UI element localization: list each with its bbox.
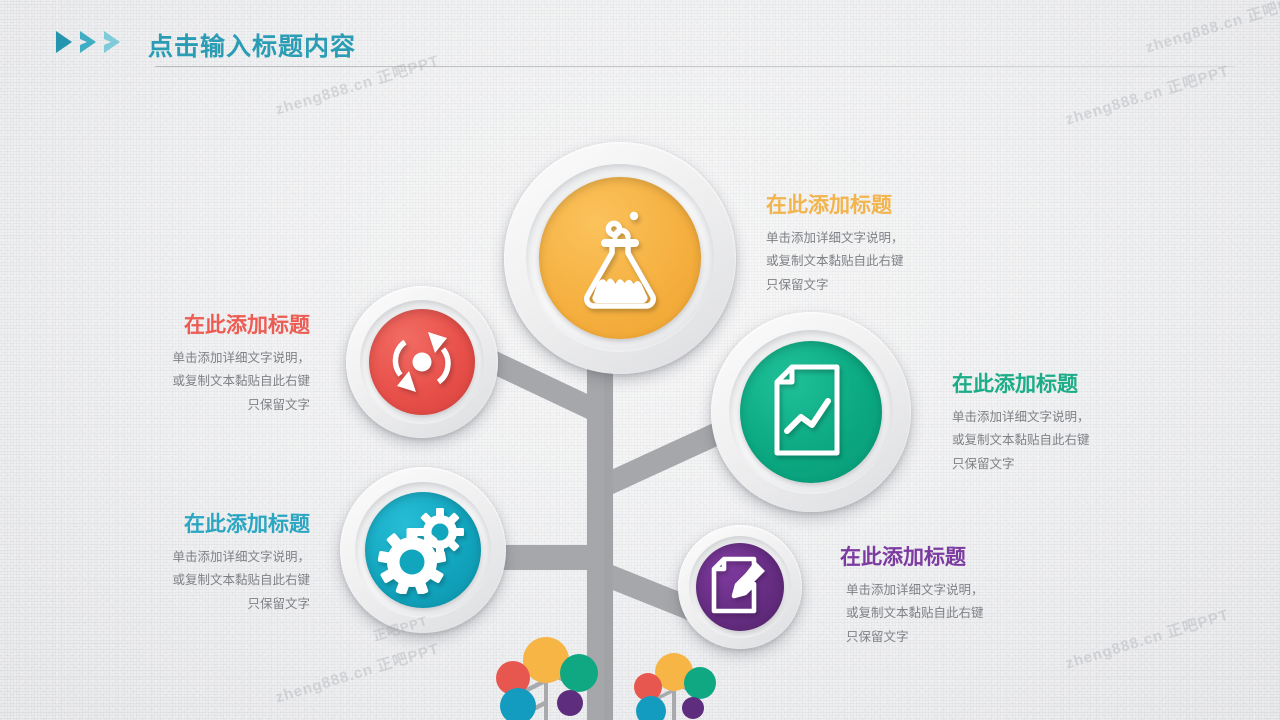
node-title: 在此添加标题 [766,193,904,219]
node-title: 在此添加标题 [840,545,984,571]
node-body-line-2: 或复制文本黏贴自此右键 [952,429,1090,452]
text-block-gears: 在此添加标题 单击添加详细文字说明， 或复制文本黏贴自此右键 只保留文字 [40,512,310,616]
node-body-line-3: 只保留文字 [40,593,310,616]
node-disc [369,309,475,415]
node-title: 在此添加标题 [40,313,310,339]
text-block-edit: 在此添加标题 单击添加详细文字说明， 或复制文本黏贴自此右键 只保留文字 [840,545,984,649]
text-block-flask: 在此添加标题 单击添加详细文字说明， 或复制文本黏贴自此右键 只保留文字 [766,193,904,297]
node-body-line-2: 或复制文本黏贴自此右键 [40,569,310,592]
node-flask[interactable] [504,142,736,374]
node-disc [365,492,481,608]
node-disc [740,341,882,483]
recycle-arrows-icon [383,323,461,401]
node-body-line-1: 单击添加详细文字说明， [952,406,1090,429]
node-body-line-1: 单击添加详细文字说明， [766,227,904,250]
node-body-line-1: 单击添加详细文字说明， [40,347,310,370]
node-body-line-2: 或复制文本黏贴自此右键 [40,370,310,393]
node-body-line-2: 或复制文本黏贴自此右键 [840,602,984,625]
node-body-line-3: 只保留文字 [766,274,904,297]
node-title: 在此添加标题 [40,512,310,538]
text-block-report: 在此添加标题 单击添加详细文字说明， 或复制文本黏贴自此右键 只保留文字 [952,372,1090,476]
node-disc [539,177,701,339]
node-report[interactable] [711,312,911,512]
document-pencil-icon [710,556,770,618]
node-recycle[interactable] [346,286,498,438]
flask-icon [572,203,668,313]
node-body-line-3: 只保留文字 [952,453,1090,476]
node-body-line-3: 只保留文字 [840,626,984,649]
node-body-line-1: 单击添加详细文字说明， [840,579,984,602]
slide-canvas: 点击输入标题内容 [0,0,1280,720]
node-edit[interactable] [678,525,802,649]
node-body-line-2: 或复制文本黏贴自此右键 [766,250,904,273]
node-body-line-1: 单击添加详细文字说明， [40,546,310,569]
decor-tree-left [496,637,598,720]
document-chart-icon [770,363,852,461]
node-title: 在此添加标题 [952,372,1090,398]
node-body-line-3: 只保留文字 [40,394,310,417]
node-disc [696,543,784,631]
text-block-recycle: 在此添加标题 单击添加详细文字说明， 或复制文本黏贴自此右键 只保留文字 [40,313,310,417]
decor-tree-right [634,653,716,720]
node-gears[interactable] [340,467,506,633]
gears-icon [377,506,469,594]
